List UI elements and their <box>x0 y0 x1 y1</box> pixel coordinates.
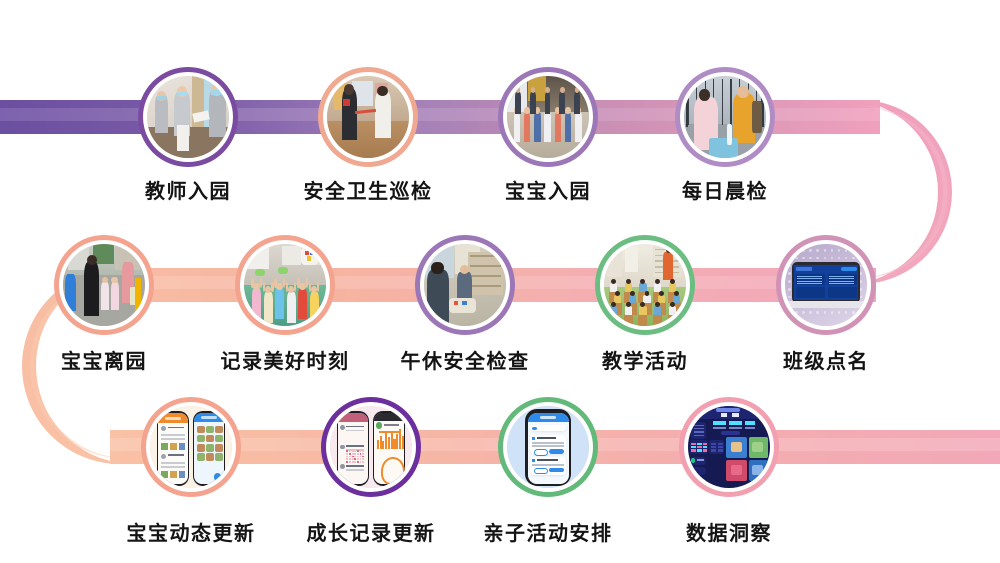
photo-nap-safety-check <box>424 244 506 326</box>
photo-safety-inspection <box>327 76 409 158</box>
step-label-4: 每日晨检 <box>585 182 865 202</box>
step-nodes-layer: 教师入园安全卫生巡检宝宝入园每日晨检宝宝离园记录美好时刻午休安全检查教学活动班级… <box>0 0 1000 563</box>
photo-teacher-entry <box>147 76 229 158</box>
process-flow-graphic: 教师入园安全卫生巡检宝宝入园每日晨检宝宝离园记录美好时刻午休安全检查教学活动班级… <box>0 0 1000 563</box>
step-node-13[interactable] <box>679 397 779 497</box>
photo-children-arrival <box>507 76 589 158</box>
photo-teaching-activity <box>604 244 686 326</box>
step-node-5[interactable] <box>54 235 154 335</box>
step-node-6[interactable] <box>235 235 335 335</box>
step-node-10[interactable] <box>141 397 241 497</box>
step-node-4[interactable] <box>675 67 775 167</box>
step-label-13: 数据洞察 <box>589 524 869 544</box>
photo-happy-moments <box>244 244 326 326</box>
step-node-1[interactable] <box>138 67 238 167</box>
step-node-3[interactable] <box>498 67 598 167</box>
photo-growth-record-update <box>330 406 412 488</box>
step-node-7[interactable] <box>415 235 515 335</box>
step-node-12[interactable] <box>498 397 598 497</box>
step-node-9[interactable] <box>776 235 876 335</box>
photo-morning-health-check <box>684 76 766 158</box>
step-label-9: 班级点名 <box>686 352 966 372</box>
photo-parent-child-activity <box>507 406 589 488</box>
photo-children-leaving <box>63 244 145 326</box>
step-node-2[interactable] <box>318 67 418 167</box>
photo-baby-feed-update <box>150 406 232 488</box>
step-node-8[interactable] <box>595 235 695 335</box>
photo-data-insight <box>688 406 770 488</box>
photo-class-roll-call <box>785 244 867 326</box>
step-node-11[interactable] <box>321 397 421 497</box>
